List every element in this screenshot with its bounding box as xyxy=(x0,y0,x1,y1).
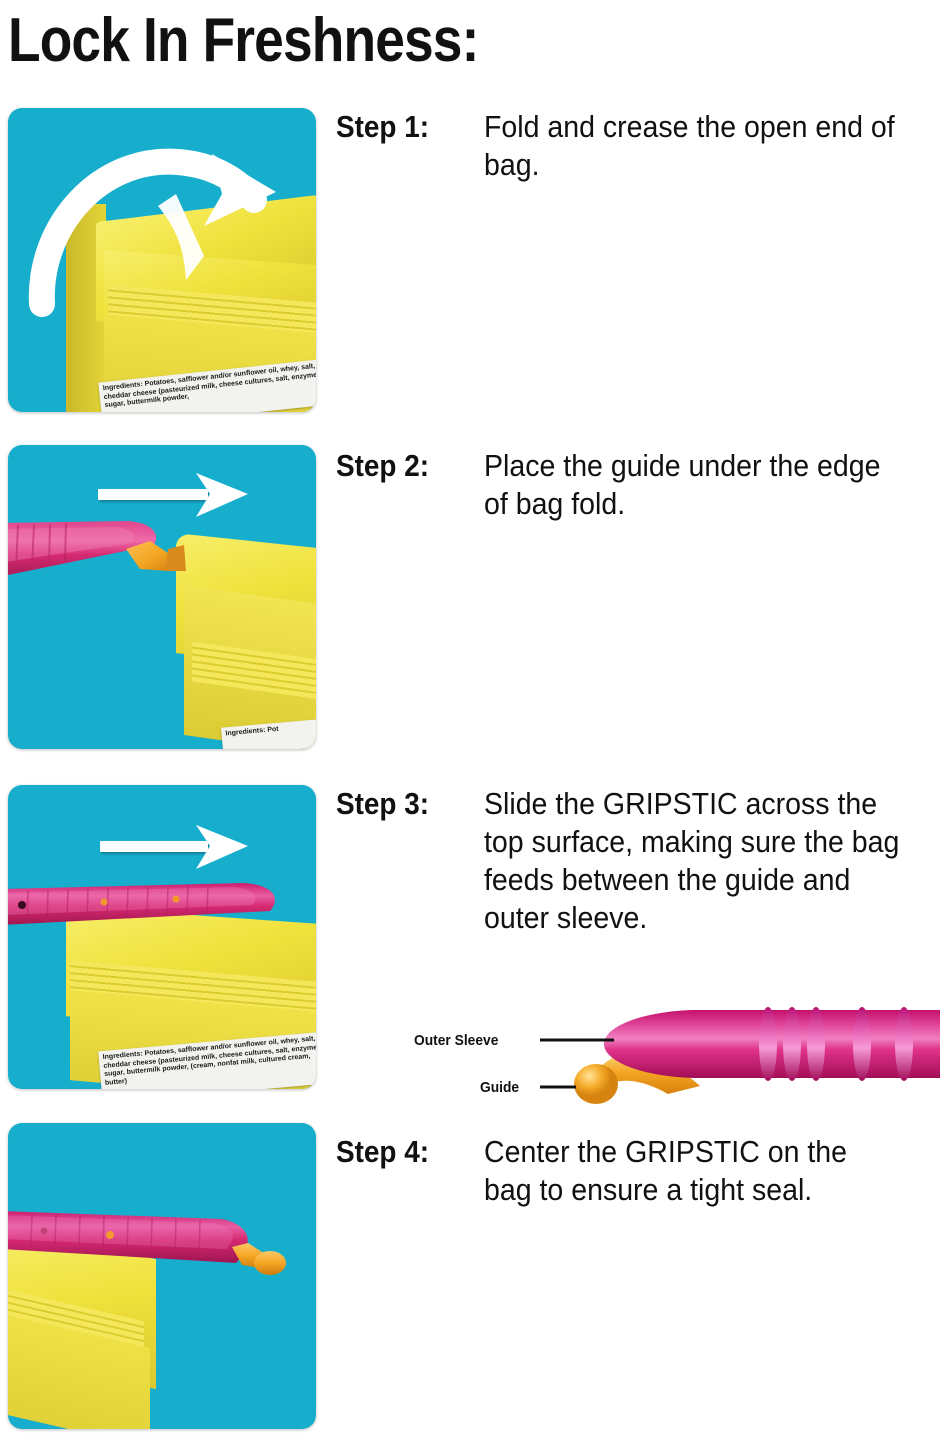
step-4-illustration xyxy=(8,1123,316,1429)
step-row-1: Ingredients: Potatoes, safflower and/or … xyxy=(0,100,940,420)
step-1-text: Fold and crease the open end of bag. xyxy=(484,108,900,184)
step-2-photo: Ingredients: Pot xyxy=(8,445,316,749)
right-arrow-icon xyxy=(98,489,208,500)
step-4-text: Center the GRIPSTIC on the bag to ensure… xyxy=(484,1133,900,1209)
step-2-illustration: Ingredients: Pot xyxy=(8,445,316,749)
gripstic-body xyxy=(8,1123,316,1427)
right-arrow-head-icon xyxy=(194,467,264,523)
step-row-2: Ingredients: Pot Step 2: Place the guide… xyxy=(0,437,940,757)
step-4-photo xyxy=(8,1123,316,1429)
step-1-photo: Ingredients: Potatoes, safflower and/or … xyxy=(8,108,316,412)
step-2-text: Place the guide under the edge of bag fo… xyxy=(484,447,900,523)
right-arrow-icon xyxy=(100,841,208,852)
step-2-label: Step 2: xyxy=(336,447,429,485)
step-1-illustration: Ingredients: Potatoes, safflower and/or … xyxy=(8,108,316,412)
step-3-label: Step 3: xyxy=(336,785,429,823)
step-3-photo: Ingredients: Potatoes, safflower and/or … xyxy=(8,785,316,1089)
right-arrow-head-icon xyxy=(194,819,264,875)
step-row-3: Ingredients: Potatoes, safflower and/or … xyxy=(0,777,940,1097)
step-1-label: Step 1: xyxy=(336,108,429,146)
step-3-illustration: Ingredients: Potatoes, safflower and/or … xyxy=(8,785,316,1089)
step-row-4: Step 4: Center the GRIPSTIC on the bag t… xyxy=(0,1115,940,1437)
page-title: Lock In Freshness: xyxy=(8,2,610,82)
step-4-label: Step 4: xyxy=(336,1133,429,1171)
step-3-text: Slide the GRIPSTIC across the top surfac… xyxy=(484,785,900,937)
